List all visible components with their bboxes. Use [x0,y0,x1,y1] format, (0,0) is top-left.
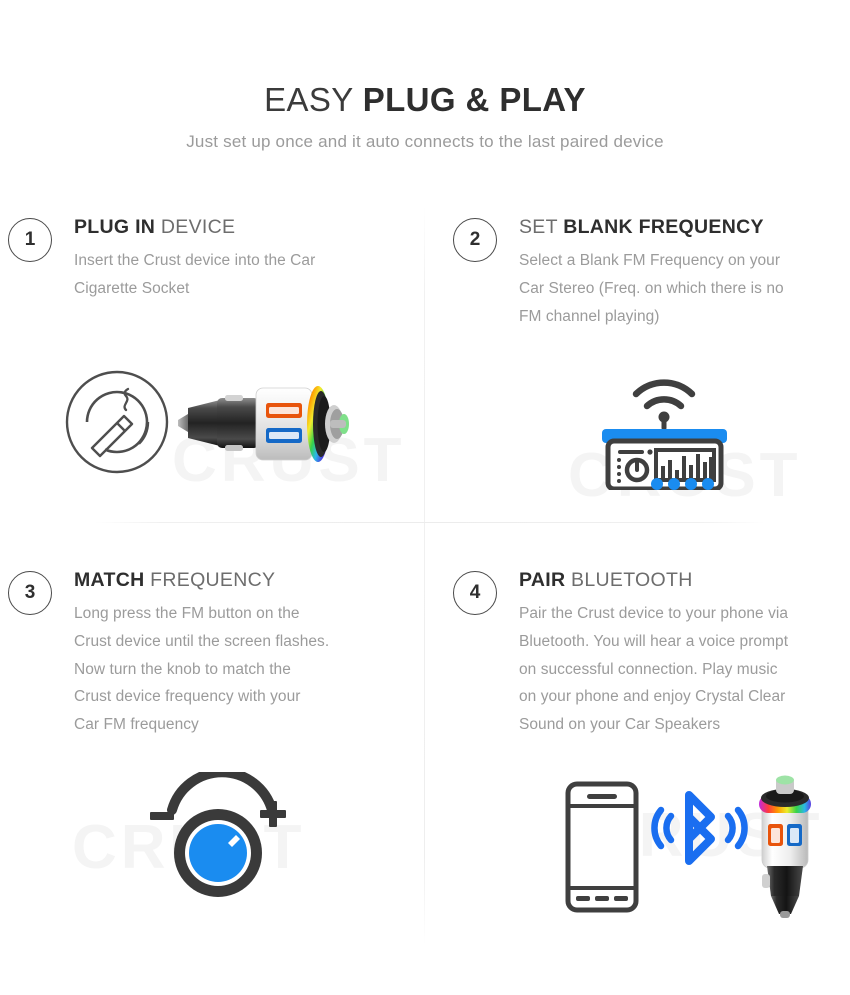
step-desc-2: Select a Blank FM Frequency on your Car … [519,247,784,330]
step-2: 2 SET BLANK FREQUENCY Select a Blank FM … [453,217,784,330]
page-title: EASY PLUG & PLAY [0,82,850,118]
step-title-1-bold: PLUG IN [74,216,155,238]
step-number-badge-1: 1 [8,218,52,262]
step-3: 3 MATCH FREQUENCY Long press the FM butt… [8,570,329,738]
divider-horizontal [95,522,765,523]
page-subtitle: Just set up once and it auto connects to… [0,132,850,152]
step-desc-3: Long press the FM button on the Crust de… [74,600,329,738]
step-1: 1 PLUG IN DEVICE Insert the Crust device… [8,217,315,303]
step-title-3-bold: MATCH [74,569,144,591]
step-title-1: PLUG IN DEVICE [74,217,315,238]
step-4: 4 PAIR BLUETOOTH Pair the Crust device t… [453,570,788,738]
step-number-badge-2: 2 [453,218,497,262]
page-title-bold: PLUG & PLAY [363,81,586,118]
step-number-badge-3: 3 [8,571,52,615]
illustration-tuning-knob [132,772,312,905]
step-desc-4: Pair the Crust device to your phone via … [519,600,788,738]
step-desc-1: Insert the Crust device into the Car Cig… [74,247,315,302]
step-title-4: PAIR BLUETOOTH [519,570,788,591]
header: EASY PLUG & PLAY Just set up once and it… [0,0,850,152]
step-title-4-bold: PAIR [519,569,565,591]
step-title-3-light: FREQUENCY [144,569,275,591]
step-title-2-bold: BLANK FREQUENCY [563,216,764,238]
illustration-car-stereo-radio-with-signal [552,362,772,495]
step-title-2-light: SET [519,216,563,238]
step-title-3: MATCH FREQUENCY [74,570,329,591]
divider-vertical [424,205,425,945]
illustration-phone-bluetooth-charger [558,772,820,927]
illustration-cigarette-socket-and-car-charger [62,370,362,487]
step-title-2: SET BLANK FREQUENCY [519,217,784,238]
page-title-light: EASY [264,81,363,118]
step-title-4-light: BLUETOOTH [565,569,692,591]
step-number-badge-4: 4 [453,571,497,615]
step-title-1-light: DEVICE [155,216,235,238]
